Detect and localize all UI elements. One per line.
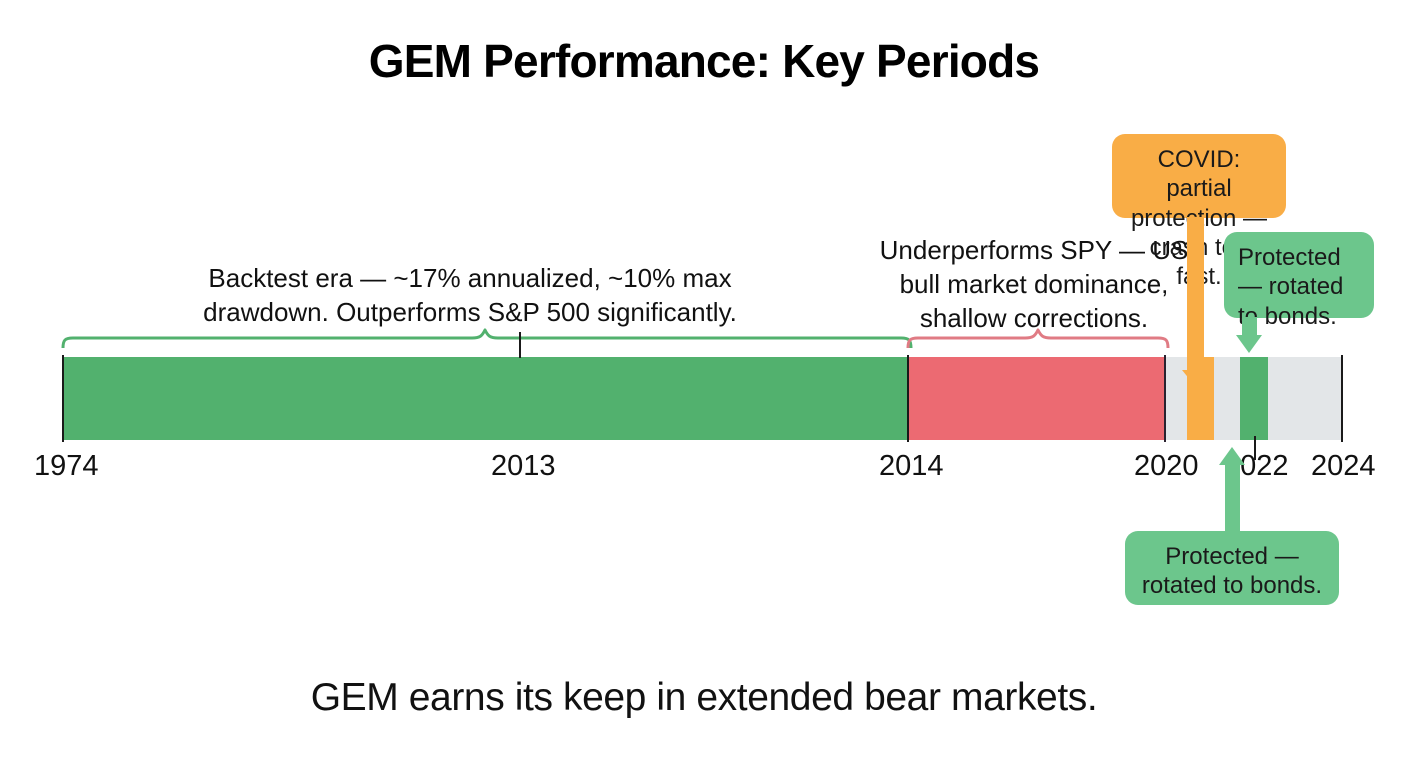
segment-2022-bear[interactable] xyxy=(1240,357,1268,440)
axis-label-2020: 2020 xyxy=(1134,450,1199,483)
figure-caption: GEM earns its keep in extended bear mark… xyxy=(0,676,1408,720)
axis-label-2014: 2014 xyxy=(879,450,944,483)
tick-2013 xyxy=(519,332,521,358)
timeline-figure: GEM Performance: Key Periods Backtest er… xyxy=(0,0,1408,768)
tick-1974 xyxy=(62,355,64,442)
tick-2020 xyxy=(1164,355,1166,442)
callout-bonds-bottom-text: Protected — rotated to bonds. xyxy=(1142,543,1322,599)
segment-underperform[interactable] xyxy=(908,357,1165,440)
segment-backtest-era[interactable] xyxy=(62,357,908,440)
underperform-brace xyxy=(905,322,1171,353)
page-title: GEM Performance: Key Periods xyxy=(0,34,1408,88)
tick-2014 xyxy=(907,355,909,442)
axis-label-1974: 1974 xyxy=(34,450,99,483)
tick-2024 xyxy=(1341,355,1343,442)
axis-label-2024: 2024 xyxy=(1311,450,1376,483)
backtest-era-note: Backtest era — ~17% annualized, ~10% max… xyxy=(150,262,790,330)
timeline-bar[interactable] xyxy=(62,357,1343,440)
callout-covid[interactable]: COVID: partial protection — crash too fa… xyxy=(1112,134,1286,218)
callout-bonds-top-pointer xyxy=(1242,317,1257,337)
callout-bonds-bottom-pointer xyxy=(1225,463,1240,533)
callout-bonds-top[interactable]: Protected — rotated to bonds. xyxy=(1224,232,1374,318)
backtest-brace xyxy=(60,322,914,353)
callout-bonds-bottom[interactable]: Protected — rotated to bonds. xyxy=(1125,531,1339,605)
axis-label-2013: 2013 xyxy=(491,450,556,483)
underperform-era-note: Underperforms SPY — US bull market domin… xyxy=(874,234,1194,335)
callout-covid-pointer xyxy=(1187,217,1204,372)
